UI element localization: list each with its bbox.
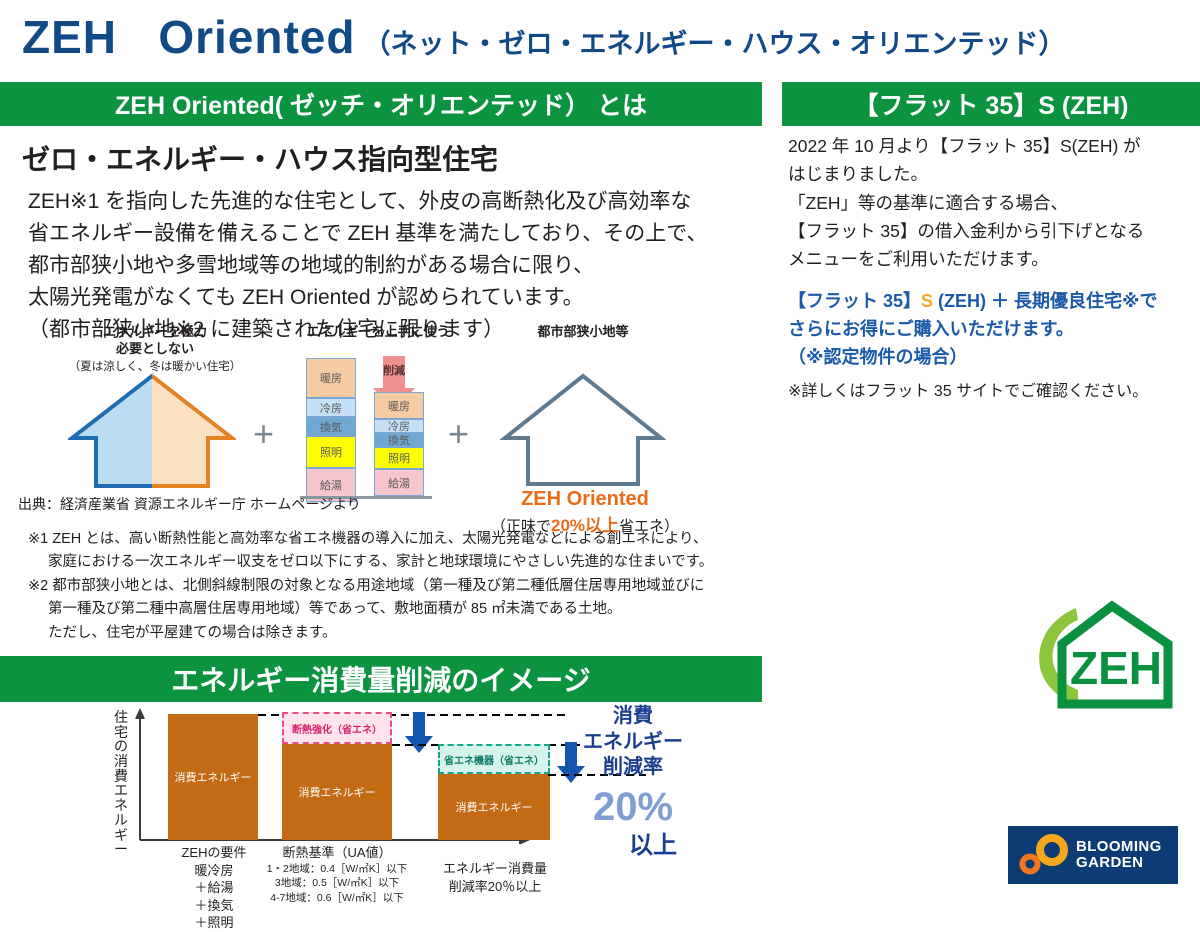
callout-suffix: 以上 [588, 825, 718, 860]
chart-savings-box-insulation: 断熱強化（省エネ） [282, 712, 392, 744]
xlabel-2-l1: 1・2地域：0.4［W/㎡K］以下 [254, 862, 420, 877]
footnote-2-line3: ただし、住宅が平屋建ての場合は除きます。 [28, 622, 713, 645]
left-body-line-2: 省エネルギー設備を備えることで ZEH 基準を満たしており、その上で、 [28, 218, 770, 250]
source-credit: 出典：経済産業省 資源エネルギー庁 ホームページより [18, 494, 361, 514]
flat35-highlight-line2: さらにお得にご購入いただけます。 [788, 316, 1200, 344]
title-subtitle: （ネット・ゼロ・エネルギー・ハウス・オリエンテッド） [363, 22, 1065, 61]
bar-seg-heating: 暖房 [306, 358, 356, 398]
flat35-line-5: メニューをご利用いただけます。 [788, 245, 1200, 273]
energy-bar-before: 暖房 冷房 換気 照明 給湯 [306, 358, 356, 502]
highlight-s: S [921, 291, 933, 311]
chart-bar-1: 消費エネルギー [168, 714, 258, 840]
poster-root: ZEH Oriented （ネット・ゼロ・エネルギー・ハウス・オリエンテッド） … [0, 0, 1200, 900]
xlabel-1-l2: ＋給湯 [160, 879, 268, 897]
callout-line3: 削減率 [548, 755, 718, 781]
flat35-highlight-line1: 【フラット 35】S (ZEH) ＋ 長期優良住宅※で [788, 288, 1200, 316]
xlabel-1-main: ZEHの要件 [160, 844, 268, 862]
flat35-note: ※詳しくはフラット 35 サイトでご確認ください。 [788, 377, 1200, 401]
zeh-logo-text: ZEH [1070, 642, 1162, 694]
bar2-seg-hotwater: 給湯 [374, 469, 424, 496]
split-house-arrow-icon [68, 372, 236, 490]
bar2-seg-ventilation: 換気 [374, 433, 424, 447]
bar2-seg-heating: 暖房 [374, 392, 424, 419]
xlabel-1-l3: ＋換気 [160, 897, 268, 915]
blooming-garden-logo: BLOOMING GARDEN [1008, 826, 1178, 884]
bar2-seg-lighting: 照明 [374, 447, 424, 469]
brand-line-1: BLOOMING [1076, 839, 1162, 855]
chart-xlabel-2: 断熱基準（UA値） 1・2地域：0.4［W/㎡K］以下 3地域：0.5［W/㎡K… [254, 844, 420, 906]
callout-value: 20% [548, 787, 718, 827]
bar-seg-ventilation: 換気 [306, 417, 356, 436]
chart-xlabel-3: エネルギー消費量 削減率20％以上 [410, 860, 580, 895]
diagram-caption-urban: 都市部狭小地等 [498, 324, 668, 341]
highlight-post: (ZEH) ＋ 長期優良住宅※で [933, 291, 1158, 311]
footnote-1-line2: 家庭における一次エネルギー収支をゼロ以下にする、家計と地球環境にやさしい先進的な… [28, 551, 713, 574]
caption-reduce-line1: エネルギーを極力 [103, 324, 207, 339]
title-main: ZEH Oriented [22, 10, 355, 64]
left-body-line-3: 都市部狭小地や多雪地域等の地域的制約がある場合に限り、 [28, 250, 770, 282]
xlabel-1-l1: 暖冷房 [160, 862, 268, 880]
caption-reduce-line3: （夏は涼しく、冬は暖かい住宅） [69, 361, 242, 373]
xlabel-3-l1: 削減率20％以上 [410, 878, 580, 896]
diagram-caption-useful: エネルギーを上手に使う [288, 324, 468, 341]
highlight-pre: 【フラット 35】 [788, 291, 921, 311]
left-body-line-4: 太陽光発電がなくても ZEH Oriented が認められています。 [28, 282, 770, 314]
page-title: ZEH Oriented （ネット・ゼロ・エネルギー・ハウス・オリエンテッド） [22, 10, 1065, 64]
footnote-2-line2: 第一種及び第二種中高層住居専用地域）等であって、敷地面積が 85 ㎡未満である土… [28, 598, 713, 621]
reduction-rate-callout: 消費 エネルギー 削減率 20% 以上 [548, 704, 718, 860]
diagram-caption-reduce: エネルギーを極力 必要としない （夏は涼しく、冬は暖かい住宅） [60, 324, 250, 375]
flat35-line-1: 2022 年 10 月より【フラット 35】S(ZEH) が [788, 132, 1200, 160]
chart-savings-box-appliance: 省エネ機器（省エネ） [438, 744, 550, 774]
bar-seg-cooling: 冷房 [306, 398, 356, 417]
flat35-line-3: 「ZEH」等の基準に適合する場合、 [788, 189, 1200, 217]
blooming-garden-wordmark: BLOOMING GARDEN [1076, 839, 1162, 871]
flat35-line-2: はじまりました。 [788, 160, 1200, 188]
section-header-left: ZEH Oriented( ゼッチ・オリエンテッド） とは [0, 82, 762, 126]
chart-xlabel-1: ZEHの要件 暖冷房 ＋給湯 ＋換気 ＋照明 [160, 844, 268, 932]
chart-y-axis-label: 住宅の消費エネルギー [112, 710, 130, 857]
footnote-2-line1: ※2 都市部狭小地とは、北側斜線制限の対象となる用途地域（第一種及び第二種低層住… [28, 575, 713, 598]
zeh-certification-logo-icon: ZEH [1020, 592, 1180, 712]
xlabel-2-main: 断熱基準（UA値） [254, 844, 420, 862]
callout-line2: エネルギー [548, 730, 718, 756]
xlabel-3-main: エネルギー消費量 [410, 860, 580, 878]
caption-reduce-line2: 必要としない [116, 341, 194, 356]
flat35-line-4: 【フラット 35】の借入金利から引下げとなる [788, 217, 1200, 245]
flat35-body: 2022 年 10 月より【フラット 35】S(ZEH) が はじまりました。 … [788, 132, 1200, 274]
flat35-highlight-line3: （※認定物件の場合） [788, 344, 1200, 372]
plus-sign-1: + [253, 416, 274, 452]
xlabel-2-l2: 3地域：0.5［W/㎡K］以下 [254, 876, 420, 891]
zeh-oriented-title: ZEH Oriented [480, 488, 690, 511]
energy-concept-diagram: エネルギーを極力 必要としない （夏は涼しく、冬は暖かい住宅） + エネルギーを… [0, 322, 770, 502]
footnote-1-line1: ※1 ZEH とは、高い断熱性能と高効率な省エネ機器の導入に加え、太陽光発電など… [28, 528, 713, 551]
chart-bar-2: 消費エネルギー [282, 744, 392, 840]
left-body-line-1: ZEH※1 を指向した先進的な住宅として、外皮の高断熱化及び高効率な [28, 186, 770, 218]
outline-house-icon [500, 370, 666, 488]
brand-line-2: GARDEN [1076, 855, 1162, 871]
xlabel-1-l4: ＋照明 [160, 914, 268, 932]
flat35-panel: 2022 年 10 月より【フラット 35】S(ZEH) が はじまりました。 … [782, 132, 1200, 401]
energy-bar-after: 暖房 冷房 換気 照明 給湯 [374, 392, 424, 496]
chart-bar-3: 消費エネルギー [438, 774, 550, 840]
xlabel-2-l3: 4-7地域：0.6［W/㎡K］以下 [254, 891, 420, 906]
callout-line1: 消費 [548, 704, 718, 730]
left-panel: ゼロ・エネルギー・ハウス指向型住宅 ZEH※1 を指向した先進的な住宅として、外… [0, 126, 770, 346]
left-panel-heading: ゼロ・エネルギー・ハウス指向型住宅 [22, 138, 770, 178]
reduction-arrow-label: 削減 [372, 362, 416, 378]
section-header-right: 【フラット 35】S (ZEH) [782, 82, 1200, 126]
bar2-seg-cooling: 冷房 [374, 419, 424, 433]
blooming-garden-rings-icon [1016, 833, 1072, 877]
footnotes-block: ※1 ZEH とは、高い断熱性能と高効率な省エネ機器の導入に加え、太陽光発電など… [28, 528, 713, 645]
section-header-bottom: エネルギー消費量削減のイメージ [0, 656, 762, 702]
flat35-highlight: 【フラット 35】S (ZEH) ＋ 長期優良住宅※で さらにお得にご購入いただ… [788, 288, 1200, 372]
plus-sign-2: + [448, 416, 469, 452]
bar-seg-lighting: 照明 [306, 436, 356, 468]
